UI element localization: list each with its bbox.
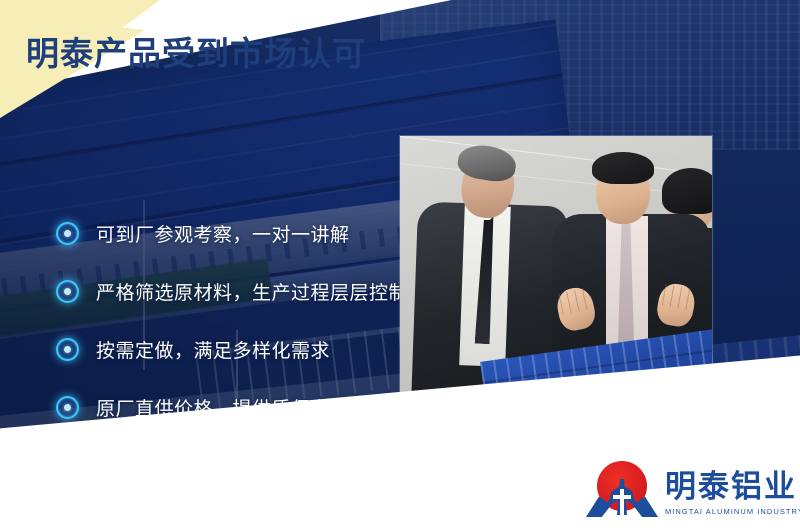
mingtai-sun-mountain-icon: [586, 459, 658, 517]
list-item: 严格筛选原材料，生产过程层层控制: [56, 276, 408, 306]
target-ring-icon: [56, 338, 79, 361]
list-item: 按需定做，满足多样化需求: [56, 334, 408, 364]
company-logo: 明泰铝业 MINGTAI ALUMINUM INDUSTRY CO., LTD: [586, 455, 794, 517]
anchor-cross-horizontal: [613, 495, 631, 499]
person-center-hair: [592, 152, 654, 184]
logo-wordmark: 明泰铝业 MINGTAI ALUMINUM INDUSTRY CO., LTD: [665, 471, 800, 516]
target-ring-icon: [56, 280, 79, 303]
list-item-label: 按需定做，满足多样化需求: [96, 336, 330, 363]
company-name-cn: 明泰铝业: [665, 471, 800, 504]
promo-banner: 明泰产品受到市场认可 可到厂参观考察，一对一讲解 严格筛选原材料，生产过程层层控…: [0, 0, 800, 530]
studio-backdrop-line: [400, 136, 712, 185]
anchor-cross-vertical: [620, 489, 624, 515]
target-ring-icon: [56, 222, 79, 245]
target-ring-icon: [56, 396, 79, 419]
list-item-label: 严格筛选原材料，生产过程层层控制: [96, 278, 408, 305]
list-item-label: 可到厂参观考察，一对一讲解: [96, 220, 350, 247]
person-right-hair: [662, 168, 712, 214]
company-name-en: MINGTAI ALUMINUM INDUSTRY CO., LTD: [665, 507, 800, 516]
list-item: 可到厂参观考察，一对一讲解: [56, 218, 408, 248]
page-title: 明泰产品受到市场认可: [26, 27, 366, 75]
